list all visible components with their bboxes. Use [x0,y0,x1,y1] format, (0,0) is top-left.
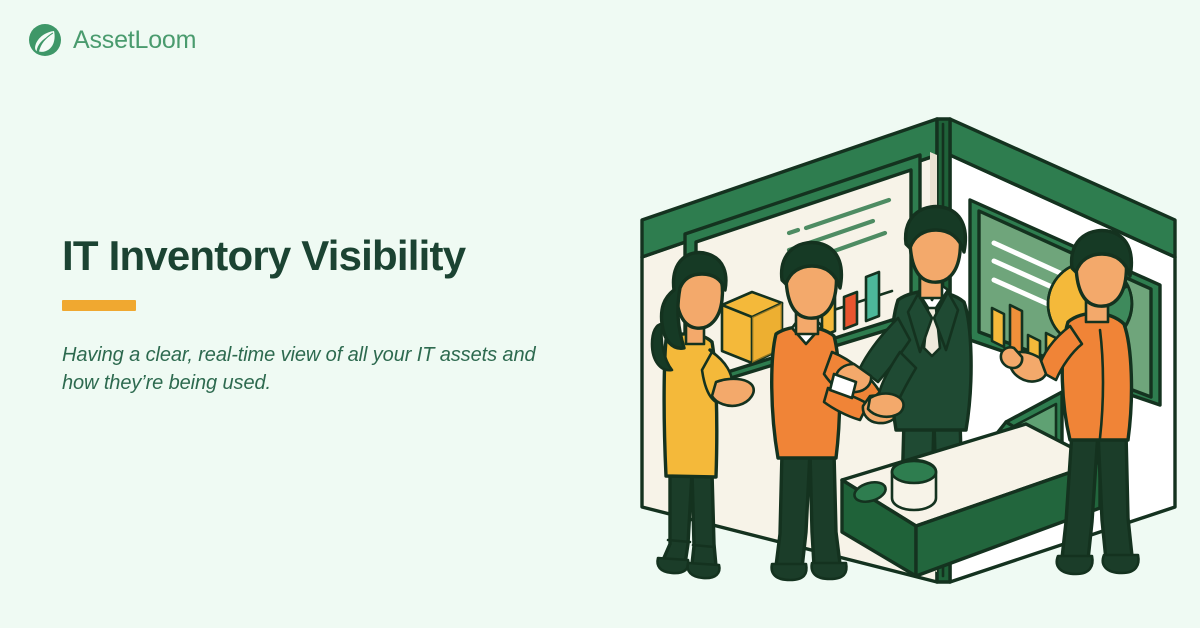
accent-bar [62,300,136,311]
office-team-dashboard-illustration: .ol { stroke:#14321F; stroke-width:3.4; … [630,52,1200,592]
brand-logo[interactable]: AssetLoom [27,22,196,58]
hero-copy: IT Inventory Visibility Having a clear, … [62,232,582,398]
brand-name: AssetLoom [73,28,196,53]
leaf-circle-icon [27,22,63,58]
cup-icon [892,460,936,510]
handshake [868,394,903,417]
page-title: IT Inventory Visibility [62,232,582,279]
hero-subtitle: Having a clear, real-time view of all yo… [62,341,542,398]
